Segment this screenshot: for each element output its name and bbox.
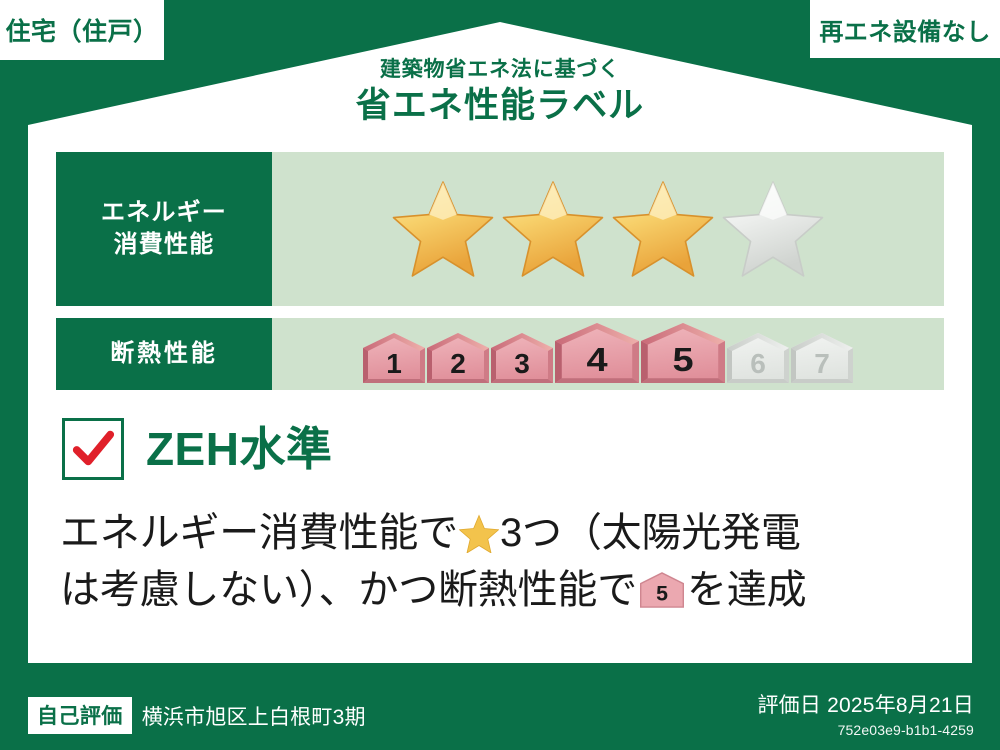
svg-text:1: 1 <box>386 348 402 379</box>
energy-rating-content <box>272 152 944 306</box>
description-line1-text-b: 3つ（太陽光発電 <box>500 505 801 562</box>
energy-performance-row: エネルギー 消費性能 <box>56 152 944 306</box>
building-type-badge-label: 住宅（住戸） <box>5 12 158 48</box>
renewable-energy-badge-label: 再エネ設備なし <box>819 12 990 47</box>
zeh-checkbox <box>62 418 124 480</box>
energy-label-line2: 消費性能 <box>101 229 227 261</box>
footer-right-group: 評価日 2025年8月21日 752e03e9-b1b1-4259 <box>757 689 974 738</box>
insulation-grade-7: 7 <box>791 333 853 383</box>
description-line2-text-a: は考慮しない）、かつ断熱性能で <box>60 562 637 619</box>
star-icon-3 <box>610 178 716 280</box>
insulation-performance-label-cell: 断熱性能 <box>56 318 272 390</box>
insulation-grade-icon: 5 <box>640 570 684 610</box>
description-line-2: は考慮しない）、かつ断熱性能で 5 を達成 <box>60 562 940 619</box>
svg-text:5: 5 <box>672 341 693 379</box>
energy-performance-label-cell: エネルギー 消費性能 <box>56 152 272 306</box>
page-title: 省エネ性能ラベル <box>0 84 1000 128</box>
description-line2-text-b: を達成 <box>687 562 806 619</box>
svg-text:2: 2 <box>450 348 466 379</box>
svg-text:7: 7 <box>814 348 830 379</box>
star-icon-2 <box>500 178 606 280</box>
insulation-performance-row: 断熱性能 1234567 <box>56 318 944 390</box>
energy-label-line1: エネルギー <box>101 197 227 229</box>
svg-text:4: 4 <box>586 341 607 379</box>
insulation-grade-2: 2 <box>427 333 489 383</box>
svg-text:3: 3 <box>514 348 530 379</box>
building-type-badge: 住宅（住戸） <box>0 0 164 60</box>
star-icon-4 <box>720 178 826 280</box>
insulation-grade-6: 6 <box>727 333 789 383</box>
renewable-energy-badge: 再エネ設備なし <box>810 0 1000 58</box>
insulation-grade-3: 3 <box>491 333 553 383</box>
insulation-rating-content: 1234567 <box>272 318 944 390</box>
zeh-standard-label: ZEH水準 <box>146 426 332 472</box>
evaluation-date: 評価日 2025年8月21日 <box>757 689 974 719</box>
energy-performance-label: 住宅（住戸） 再エネ設備なし 建築物省エネ法に基づく 省エネ性能ラベル エネルギ… <box>0 0 1000 750</box>
self-evaluation-badge: 自己評価 <box>28 697 132 734</box>
footer-left-group: 自己評価 横浜市旭区上白根町3期 <box>28 697 366 734</box>
insulation-grade-icon-value: 5 <box>656 582 668 606</box>
star-rating <box>390 178 826 280</box>
star-icon-1 <box>390 178 496 280</box>
label-title-block: 建築物省エネ法に基づく 省エネ性能ラベル <box>0 58 1000 128</box>
check-icon <box>70 426 116 472</box>
insulation-grade-scale: 1234567 <box>363 323 853 385</box>
zeh-standard-row: ZEH水準 <box>62 418 332 480</box>
title-subtitle: 建築物省エネ法に基づく <box>0 58 1000 81</box>
label-description: エネルギー消費性能で 3つ（太陽光発電 は考慮しない）、かつ断熱性能で 5 を達… <box>60 505 940 619</box>
insulation-grade-1: 1 <box>363 333 425 383</box>
description-line-1: エネルギー消費性能で 3つ（太陽光発電 <box>60 505 940 562</box>
insulation-grade-4: 4 <box>555 323 639 383</box>
star-icon <box>459 514 499 553</box>
svg-text:6: 6 <box>750 348 766 379</box>
insulation-grade-5: 5 <box>641 323 725 383</box>
evaluation-id: 752e03e9-b1b1-4259 <box>757 722 974 738</box>
description-line1-text-a: エネルギー消費性能で <box>60 505 458 562</box>
property-name: 横浜市旭区上白根町3期 <box>142 701 366 731</box>
